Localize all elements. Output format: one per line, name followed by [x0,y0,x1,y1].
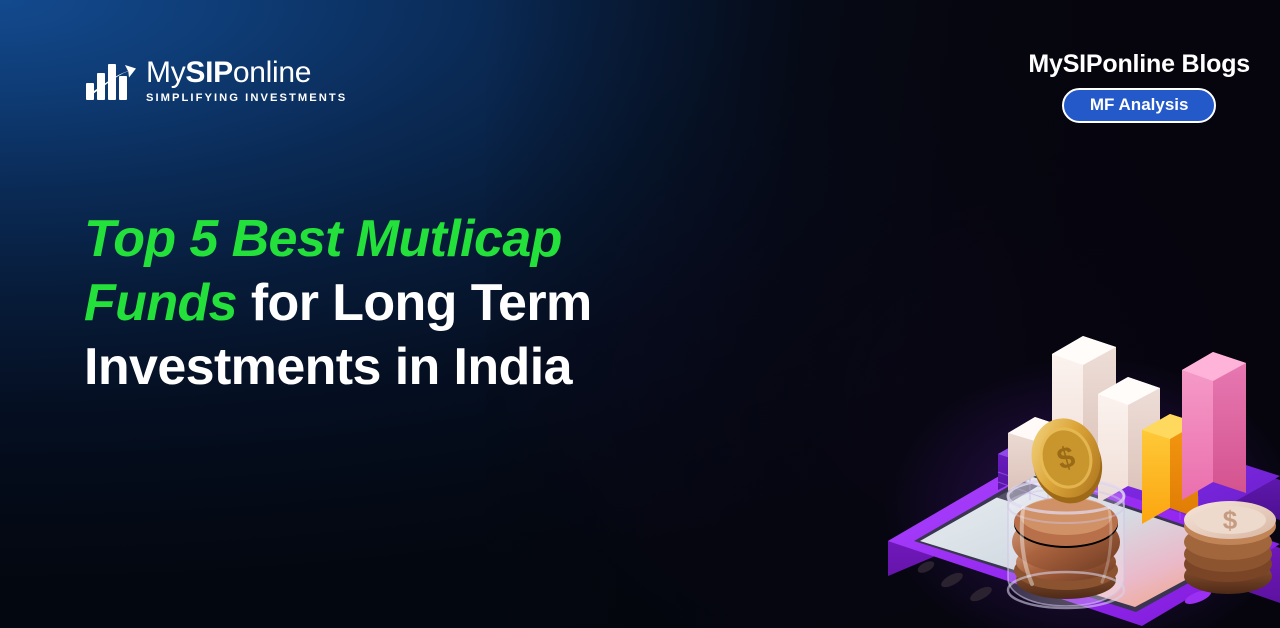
logo-word-strong: SIP [185,56,232,89]
headline-line3: Investments in India [84,338,572,396]
coin-stack: $ [1184,501,1276,594]
headline-accent-line2: Funds [84,274,237,332]
page-title: Top 5 Best Mutlicap Funds for Long Term … [84,208,724,400]
blog-banner: MySIPonline SIMPLIFYING INVESTMENTS MySI… [0,0,1280,628]
3d-investment-growth-illustration: $ $ [880,258,1280,628]
brand-title: MySIPonline Blogs [1028,50,1250,79]
bar-chart-arrow-logo-icon [84,59,136,103]
mysiponline-logo[interactable]: MySIPonline SIMPLIFYING INVESTMENTS [84,58,347,104]
brand-block: MySIPonline Blogs MF Analysis [1028,50,1250,123]
svg-text:$: $ [1223,505,1238,535]
mf-analysis-badge[interactable]: MF Analysis [1062,88,1217,123]
logo-word-post: online [233,56,311,89]
headline-accent-line1: Top 5 Best Mutlicap [84,210,562,268]
logo-wordmark: MySIPonline SIMPLIFYING INVESTMENTS [146,58,347,104]
headline-rest-line2: for Long Term [237,274,592,332]
logo-word-pre: My [146,56,185,89]
chart-bar-5 [1182,352,1246,500]
logo-word: MySIPonline [146,58,347,88]
logo-tagline: SIMPLIFYING INVESTMENTS [146,93,347,104]
